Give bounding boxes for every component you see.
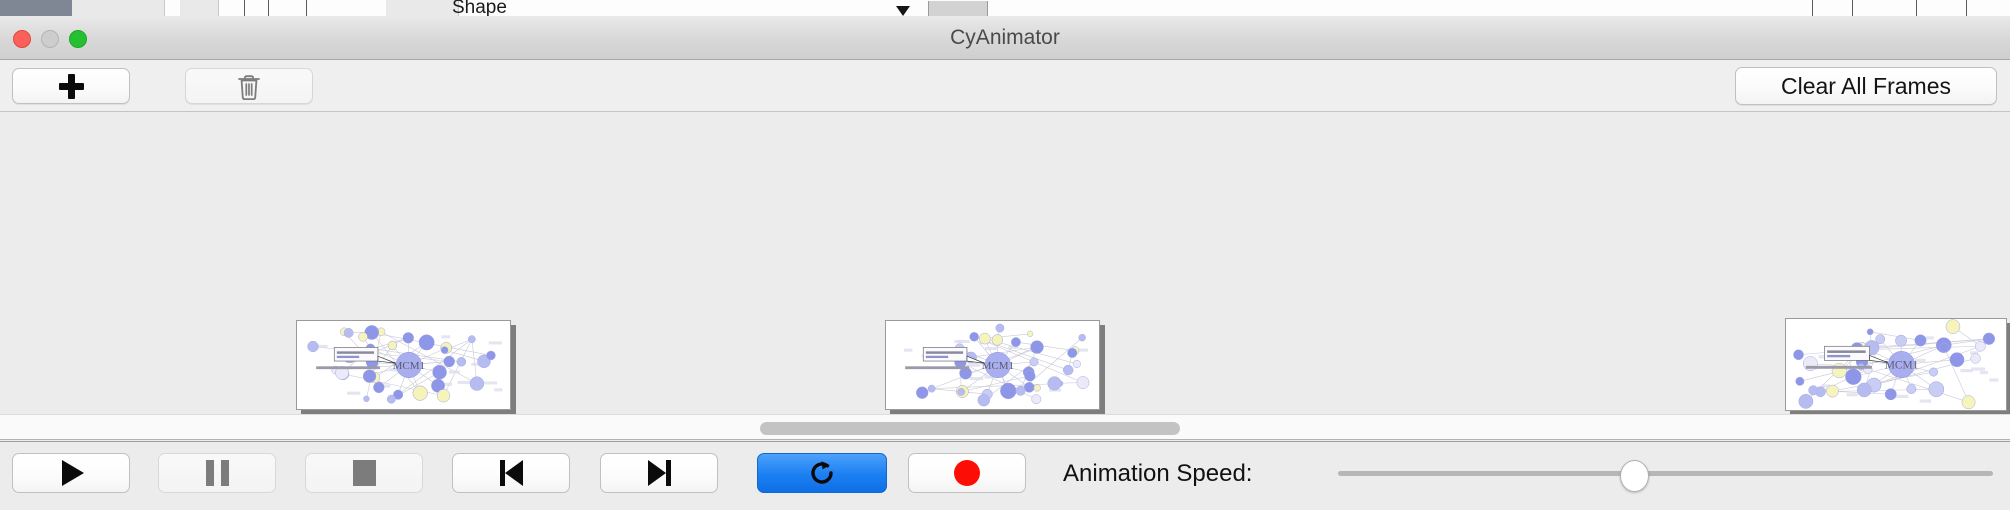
add-frame-button[interactable] xyxy=(12,68,130,104)
timeline-scrollbar-thumb[interactable] xyxy=(760,422,1180,435)
animation-speed-slider[interactable] xyxy=(1338,453,1993,493)
background-tick xyxy=(1966,0,1967,16)
background-tick xyxy=(244,0,245,16)
timeline-panel[interactable]: MCM1MCM1MCM1 12131415161718 Seconds xyxy=(0,112,2010,414)
animation-speed-label: Animation Speed: xyxy=(1063,460,1252,488)
skip-forward-icon xyxy=(648,460,671,486)
clear-all-frames-button[interactable]: Clear All Frames xyxy=(1735,67,1997,105)
background-block xyxy=(72,0,165,16)
delete-frame-button[interactable] xyxy=(185,68,313,104)
stop-icon xyxy=(353,460,376,486)
pause-icon xyxy=(206,460,229,486)
background-tick xyxy=(306,0,307,16)
pause-button[interactable] xyxy=(158,453,276,493)
play-button[interactable] xyxy=(12,453,130,493)
plus-icon xyxy=(59,74,84,99)
slider-track xyxy=(1338,471,1993,476)
skip-to-end-button[interactable] xyxy=(600,453,718,493)
timeline-frame-thumbnail[interactable]: MCM1 xyxy=(296,320,511,410)
stop-button[interactable] xyxy=(305,453,423,493)
background-tick xyxy=(268,0,269,16)
cyanimator-window: Shape CyAnimator Clear All Frames xyxy=(0,0,2010,510)
playback-bar: Animation Speed: xyxy=(0,441,2010,510)
background-block xyxy=(386,0,459,16)
timeline-scrollbar[interactable] xyxy=(0,414,2010,440)
svg-text:MCM1: MCM1 xyxy=(393,360,425,372)
timeline-frame-thumbnail[interactable]: MCM1 xyxy=(1785,318,2007,411)
loop-button[interactable] xyxy=(757,453,887,493)
toolbar: Clear All Frames xyxy=(0,60,2010,112)
background-window-dark-block xyxy=(0,0,72,16)
background-tick xyxy=(1812,0,1813,16)
record-icon xyxy=(954,460,980,486)
background-window-label: Shape xyxy=(452,0,507,17)
trash-icon xyxy=(237,73,261,100)
svg-text:MCM1: MCM1 xyxy=(1885,360,1919,372)
skip-to-start-button[interactable] xyxy=(452,453,570,493)
background-caret-icon xyxy=(896,6,910,16)
background-tick xyxy=(1852,0,1853,16)
play-icon xyxy=(62,460,84,486)
window-title: CyAnimator xyxy=(0,16,2010,60)
background-tick xyxy=(1916,0,1917,16)
background-slab xyxy=(928,1,988,16)
svg-text:MCM1: MCM1 xyxy=(982,360,1014,372)
background-window-strip: Shape xyxy=(0,0,2010,17)
title-bar[interactable]: CyAnimator xyxy=(0,16,2010,60)
loop-icon xyxy=(807,458,837,488)
background-block xyxy=(180,0,219,16)
skip-back-icon xyxy=(500,460,523,486)
record-button[interactable] xyxy=(908,453,1026,493)
timeline-frame-thumbnail[interactable]: MCM1 xyxy=(885,320,1100,410)
slider-thumb[interactable] xyxy=(1620,460,1649,492)
